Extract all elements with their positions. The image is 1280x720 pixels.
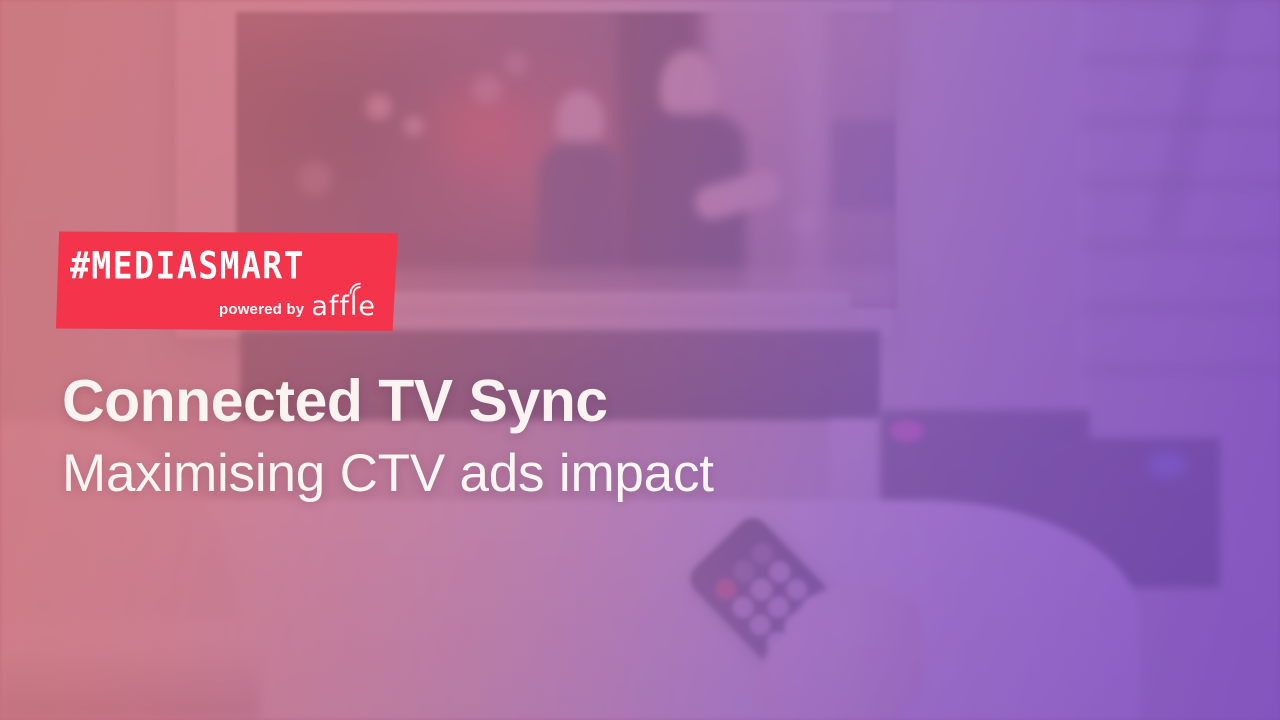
powered-by-label: powered by: [219, 302, 304, 320]
headline-block: Connected TV Sync Maximising CTV ads imp…: [62, 372, 962, 500]
logo-wordmark: #MEDIASMART: [70, 247, 380, 284]
page-subtitle: Maximising CTV ads impact: [62, 447, 962, 500]
affle-text: affle: [311, 291, 376, 322]
gradient-overlay-tint: [0, 0, 1280, 720]
mediasmart-logo-banner[interactable]: #MEDIASMART powered by affle: [56, 231, 398, 331]
page-title: Connected TV Sync: [62, 372, 962, 431]
affle-brandmark: affle: [311, 293, 376, 320]
title-card-slide: #MEDIASMART powered by affle Connected T…: [0, 0, 1280, 720]
logo-powered-by: powered by affle: [219, 293, 376, 320]
